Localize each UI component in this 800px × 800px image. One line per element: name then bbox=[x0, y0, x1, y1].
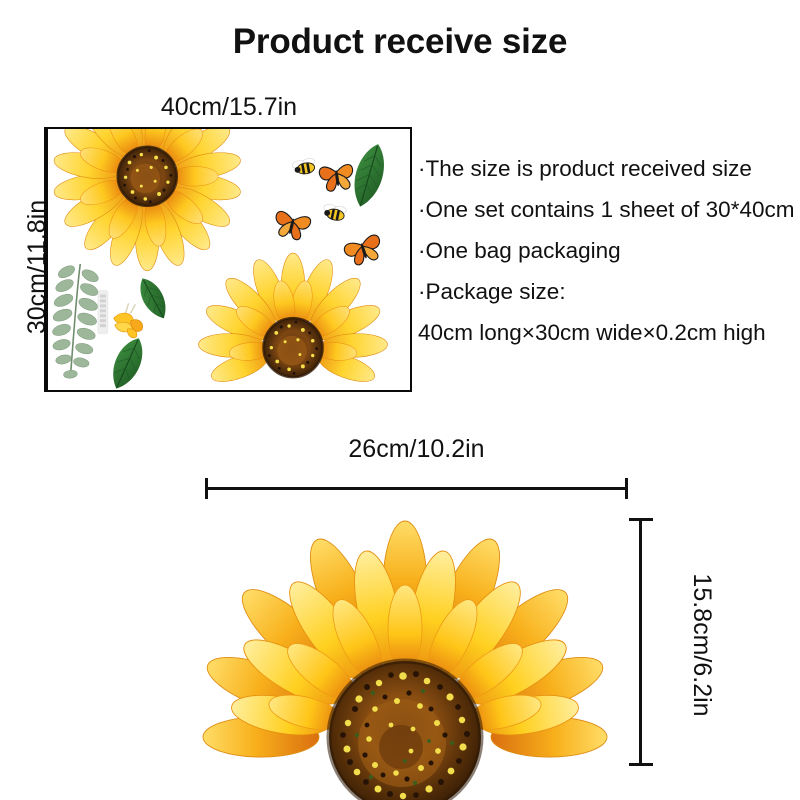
sunflower-closeup bbox=[190, 505, 620, 800]
closeup-width-cap-right bbox=[625, 478, 628, 499]
butterfly-orange bbox=[272, 210, 312, 242]
closeup-height-cap-top bbox=[629, 518, 653, 521]
leaf-green bbox=[134, 274, 173, 323]
small-yellow-flower bbox=[114, 303, 143, 337]
detail-line: ·One set contains 1 sheet of 30*40cm bbox=[418, 189, 796, 230]
closeup-height-bar bbox=[639, 518, 642, 766]
detail-line: ·The size is product received size bbox=[418, 148, 796, 189]
sunflower-large-bottom-right bbox=[198, 253, 388, 387]
watermark-tag bbox=[98, 291, 108, 334]
closeup-width-cap-left bbox=[205, 478, 208, 499]
closeup-height-label: 15.8cm/6.2in bbox=[687, 535, 717, 755]
closeup-height-cap-bottom bbox=[629, 763, 653, 766]
bee bbox=[292, 157, 317, 175]
product-details-list: ·The size is product received size ·One … bbox=[418, 148, 796, 353]
page-title: Product receive size bbox=[0, 20, 800, 64]
detail-line: ·Package size: bbox=[418, 271, 796, 312]
detail-line: 40cm long×30cm wide×0.2cm high bbox=[418, 312, 796, 353]
butterfly-orange bbox=[319, 163, 356, 192]
bee bbox=[322, 203, 347, 222]
leaf-green bbox=[105, 333, 150, 390]
sunflower-large-top-left bbox=[52, 129, 242, 271]
closeup-width-label: 26cm/10.2in bbox=[205, 434, 628, 464]
detail-line: ·One bag packaging bbox=[418, 230, 796, 271]
sheet-width-label: 40cm/15.7in bbox=[46, 92, 412, 122]
closeup-width-bar bbox=[205, 487, 628, 490]
leaf-green bbox=[347, 140, 390, 210]
butterfly-orange bbox=[343, 234, 385, 268]
eucalyptus-sprig bbox=[51, 263, 100, 379]
product-size-infographic: Product receive size 40cm/15.7in 30cm/11… bbox=[0, 0, 800, 800]
sticker-sheet-panel bbox=[46, 127, 412, 392]
